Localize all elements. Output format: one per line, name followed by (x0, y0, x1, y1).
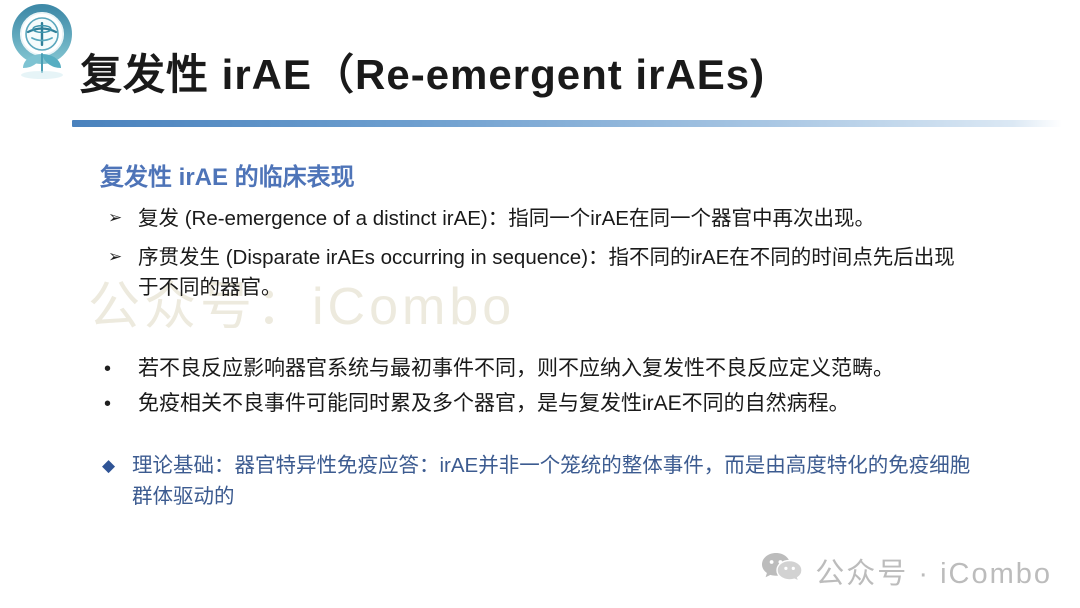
diamond-bullet-item: ◆ 理论基础：器官特异性免疫应答：irAE并非一个笼统的整体事件，而是由高度特化… (102, 451, 972, 513)
dot-bullet-text: 若不良反应影响器官系统与最初事件不同，则不应纳入复发性不良反应定义范畴。 (138, 354, 984, 384)
arrow-bullet-item: ➢ 复发 (Re-emergence of a distinct irAE)：指… (108, 204, 968, 234)
arrow-bullet-text: 序贯发生 (Disparate irAEs occurring in seque… (138, 243, 968, 302)
slide-title: 复发性 irAE（Re-emergent irAEs) (80, 52, 765, 98)
dot-bullet-icon: • (104, 389, 138, 419)
bottom-watermark-text: 公众号 · iCombo (815, 550, 1052, 592)
diamond-bullet-icon: ◆ (102, 451, 132, 479)
arrow-bullet-icon: ➢ (108, 243, 138, 270)
dot-bullet-icon: • (104, 354, 138, 384)
dot-bullet-text: 免疫相关不良事件可能同时累及多个器官，是与复发性irAE不同的自然病程。 (138, 389, 984, 419)
title-divider-rule (72, 120, 1062, 127)
dot-bullet-item: • 若不良反应影响器官系统与最初事件不同，则不应纳入复发性不良反应定义范畴。 (104, 354, 984, 384)
slide-canvas: 复发性 irAE（Re-emergent irAEs) 公众号：iCombo 复… (0, 0, 1080, 608)
section-subtitle: 复发性 irAE 的临床表现 (100, 157, 355, 192)
arrow-bullet-text: 复发 (Re-emergence of a distinct irAE)：指同一… (138, 204, 968, 234)
hospital-emblem-logo (6, 4, 78, 80)
wechat-icon (761, 551, 803, 591)
arrow-bullet-icon: ➢ (108, 204, 138, 231)
diamond-bullet-text: 理论基础：器官特异性免疫应答：irAE并非一个笼统的整体事件，而是由高度特化的免… (132, 451, 972, 513)
bottom-watermark: 公众号 · iCombo (761, 550, 1052, 592)
dot-bullet-item: • 免疫相关不良事件可能同时累及多个器官，是与复发性irAE不同的自然病程。 (104, 389, 984, 419)
arrow-bullet-item: ➢ 序贯发生 (Disparate irAEs occurring in seq… (108, 243, 968, 302)
